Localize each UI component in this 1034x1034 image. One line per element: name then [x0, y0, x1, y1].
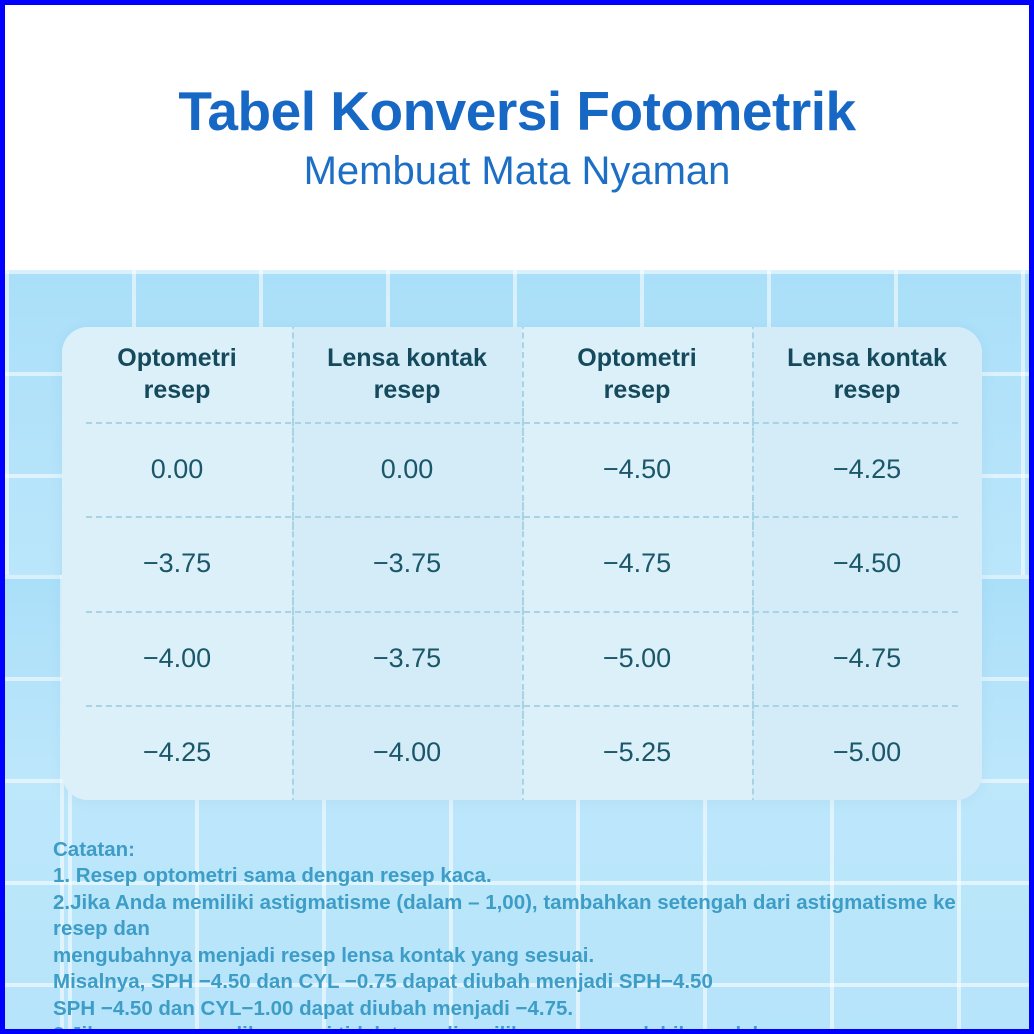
table-cell: −4.00: [62, 611, 292, 706]
column-header-lensa-kontak-resep-1: Lensa kontak resep: [292, 327, 522, 422]
notes-line-4: Misalnya, SPH −4.50 dan CYL −0.75 dapat …: [53, 969, 1003, 995]
column-header-line1: Optometri: [117, 342, 236, 374]
poster-root: Tabel Konversi Fotometrik Membuat Mata N…: [0, 0, 1034, 1034]
column-header-line2: resep: [144, 374, 211, 406]
column-header-lensa-kontak-resep-2: Lensa kontak resep: [752, 327, 982, 422]
table-cell: −5.00: [752, 705, 982, 800]
table-cell: −4.25: [752, 422, 982, 517]
table-cell: −4.50: [752, 516, 982, 611]
column-header-line1: Lensa kontak: [787, 342, 947, 374]
table-cell: 0.00: [62, 422, 292, 517]
column-header-optometri-resep-2: Optometri resep: [522, 327, 752, 422]
conversion-table-card: Optometri resep Lensa kontak resep Optom…: [62, 327, 982, 800]
column-header-optometri-resep-1: Optometri resep: [62, 327, 292, 422]
table-cell: 0.00: [292, 422, 522, 517]
table-row: −4.25 −4.00 −5.25 −5.00: [62, 705, 982, 800]
table-cell: −3.75: [292, 611, 522, 706]
table-cell: −3.75: [292, 516, 522, 611]
table-cell: −4.25: [62, 705, 292, 800]
column-header-line2: resep: [834, 374, 901, 406]
column-header-line1: Optometri: [577, 342, 696, 374]
column-header-line2: resep: [604, 374, 671, 406]
table-cell: −3.75: [62, 516, 292, 611]
notes-line-6: 3.Jika resep yang dikonversi tidak terse…: [53, 1022, 1003, 1034]
table-cell: −4.75: [752, 611, 982, 706]
table-cell: −5.25: [522, 705, 752, 800]
table-cell: −5.00: [522, 611, 752, 706]
title-header-band: Tabel Konversi Fotometrik Membuat Mata N…: [5, 5, 1029, 270]
table-cell: −4.50: [522, 422, 752, 517]
page-subtitle: Membuat Mata Nyaman: [304, 148, 731, 194]
notes-line-3: mengubahnya menjadi resep lensa kontak y…: [53, 943, 1003, 969]
notes-line-5: SPH −4.50 dan CYL−1.00 dapat diubah menj…: [53, 996, 1003, 1022]
conversion-table: Optometri resep Lensa kontak resep Optom…: [62, 327, 982, 800]
column-header-line1: Lensa kontak: [327, 342, 487, 374]
notes-section: Catatan: 1. Resep optometri sama dengan …: [53, 837, 1003, 1034]
notes-line-1: 1. Resep optometri sama dengan resep kac…: [53, 863, 1003, 889]
table-cell: −4.00: [292, 705, 522, 800]
column-header-line2: resep: [374, 374, 441, 406]
notes-line-2: 2.Jika Anda memiliki astigmatisme (dalam…: [53, 890, 1003, 943]
page-title: Tabel Konversi Fotometrik: [178, 81, 855, 142]
table-cell: −4.75: [522, 516, 752, 611]
notes-heading: Catatan:: [53, 837, 1003, 863]
